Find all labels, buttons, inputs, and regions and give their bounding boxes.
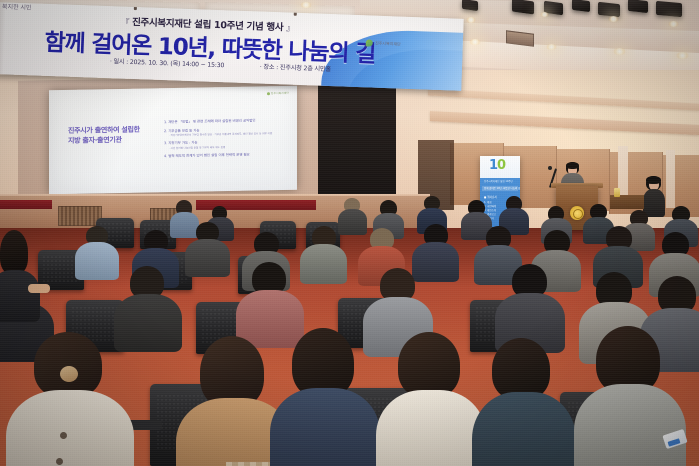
ceiling-speaker [656,1,682,17]
downlight [668,21,679,27]
auditorium-photo: 진주시복지재단 진주시가 출연하여 설립한 지방 출자·출연기관 1. 재단은 … [0,0,699,466]
slide-bullet: 2. 기부금품 모집 등 가능 · 지정기부금단체로서 기부금 영수증 발급 ·… [164,126,289,138]
person-body [0,270,40,322]
coat-button [56,458,63,465]
slide-bullet-text: 4. 법적·제도적 한계가 있어 법인 설립 이후 전략적 운영 필요 [164,152,289,159]
rollup-number-1: 1 [489,158,497,173]
person-body [412,242,459,282]
stage-trim [0,200,52,209]
city-emblem-icon [570,206,584,220]
ceiling-speaker [628,0,648,13]
hair-clip [60,366,78,382]
rollup-number-0: 0 [497,158,505,173]
speaker-hair-top [566,162,579,169]
person-body [338,209,367,235]
slide-bullet-list: 1. 재단은 「민법」 및 관련 조례에 따라 설립된 비영리 공익법인 2. … [164,118,289,163]
banner-shadow-edge [0,2,6,74]
person-body [376,390,486,466]
rollup-section-label: ■ 행사순서 [484,196,497,200]
person-body [114,294,182,352]
downlight [300,2,312,8]
person-body [6,390,134,466]
ceiling-speaker [572,0,590,12]
slide-logo-text: 진주시복지재단 [271,92,289,95]
side-table-item [614,188,620,197]
slide-title-line2: 지방 출자·출연기관 [68,134,154,146]
slide-bullet-sub: · 시민 참여형 나눔사업 운영 및 기부자 예우 제도 운영 [169,145,289,151]
wall-pilaster [666,150,675,208]
banner-location: · 장소 : 진주시청 2층 시민홀 [260,62,331,74]
banner-organization-logo: 진주시복지재단 [366,39,401,47]
downlight [469,39,481,45]
person-body [472,392,576,466]
rollup-heading: 진주시복지재단 설립 10주년 [484,180,513,184]
downlight [676,52,689,59]
slide-bullet: 4. 법적·제도적 한계가 있어 법인 설립 이후 전략적 운영 필요 [164,152,289,159]
person-hair [0,230,28,274]
person-body [185,239,230,277]
banner-logo-text: 진주시복지재단 [375,41,401,47]
person-arm [28,284,50,293]
person-body [574,384,686,466]
downlight [466,17,476,23]
slide-logo: 진주시복지재단 [267,91,289,95]
projection-screen: 진주시복지재단 진주시가 출연하여 설립한 지방 출자·출연기관 1. 재단은 … [49,86,297,195]
person-body [170,212,199,238]
person-body [75,242,119,280]
downlight [546,44,557,50]
downlight [540,12,549,17]
side-table [610,195,644,209]
rollup-anniversary-number: 10 [489,159,505,172]
leaf-icon [366,39,373,46]
microphone-head [548,166,552,170]
person-body [270,388,380,466]
slide-bullet-text: 1. 재단은 「민법」 및 관련 조례에 따라 설립된 비영리 공익법인 [164,118,289,125]
ceiling-speaker [598,2,620,17]
downlight [613,48,626,55]
coat-button [60,432,67,439]
person-hair [34,332,102,398]
rollup-subheading: 함께 걸어온 10년, 따뜻한 나눔의 길 [484,187,520,191]
slide-bullet: 1. 재단은 「민법」 및 관련 조례에 따라 설립된 비영리 공익법인 [164,118,289,125]
person-hair [492,338,550,400]
person-hair [398,332,460,398]
slide-bullet: 3. 지정기부 가능 : 가능 · 시민 참여형 나눔사업 운영 및 기부자 예… [164,139,289,151]
slide-bullet-sub: · 지정기부금단체로서 기부금 영수증 발급 · 기부금 지출내역 공개의무, … [169,132,289,138]
downlight [608,16,619,22]
slide-title: 진주시가 출연하여 설립한 지방 출자·출연기관 [68,124,154,146]
person-body [300,244,347,284]
banner-corner-fragment: 복지한 시민 [2,1,32,11]
attendant-hair-top [646,176,661,184]
